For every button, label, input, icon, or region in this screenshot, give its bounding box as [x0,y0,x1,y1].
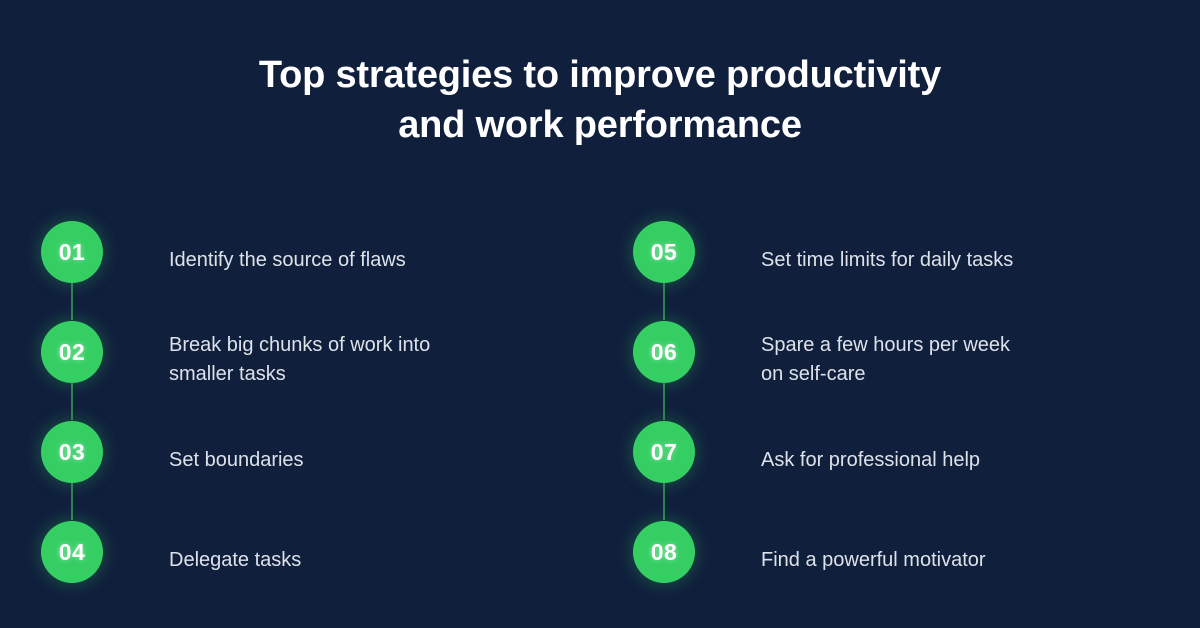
list-item-line-1: Spare a few hours per week [761,331,1161,360]
step-number: 07 [651,441,678,464]
list-item-text: Find a powerful motivator [761,510,1161,610]
list-item[interactable]: 07 Ask for professional help [624,410,1184,510]
list-item-line-1: Break big chunks of work into [169,331,569,360]
right-column: 05 Set time limits for daily tasks 06 Sp… [624,210,1184,610]
step-number: 05 [651,241,678,264]
step-badge-07[interactable]: 07 [633,421,695,483]
list-item[interactable]: 01 Identify the source of flaws [32,210,592,310]
page-title: Top strategies to improve productivity a… [0,50,1200,150]
list-item[interactable]: 03 Set boundaries [32,410,592,510]
list-item[interactable]: 04 Delegate tasks [32,510,592,610]
title-line-1: Top strategies to improve productivity [0,50,1200,100]
list-item-line-1: Ask for professional help [761,446,1161,475]
step-badge-02[interactable]: 02 [41,321,103,383]
step-number: 03 [59,441,86,464]
list-item[interactable]: 02 Break big chunks of work into smaller… [32,310,592,410]
list-item-text: Set boundaries [169,410,569,510]
list-item[interactable]: 06 Spare a few hours per week on self-ca… [624,310,1184,410]
list-item-line-1: Identify the source of flaws [169,246,569,275]
list-item-line-1: Delegate tasks [169,546,569,575]
list-item-text: Break big chunks of work into smaller ta… [169,310,569,410]
step-badge-04[interactable]: 04 [41,521,103,583]
strategy-columns: 01 Identify the source of flaws 02 Break… [0,210,1200,610]
list-item-text: Spare a few hours per week on self-care [761,310,1161,410]
list-item-line-2: on self-care [761,360,1161,389]
step-badge-06[interactable]: 06 [633,321,695,383]
step-badge-01[interactable]: 01 [41,221,103,283]
list-item-line-1: Set time limits for daily tasks [761,246,1161,275]
step-number: 02 [59,341,86,364]
step-badge-03[interactable]: 03 [41,421,103,483]
step-number: 04 [59,541,86,564]
step-number: 08 [651,541,678,564]
list-item-text: Ask for professional help [761,410,1161,510]
list-item-text: Identify the source of flaws [169,210,569,310]
step-number: 01 [59,241,86,264]
title-line-2: and work performance [0,100,1200,150]
step-badge-05[interactable]: 05 [633,221,695,283]
list-item-line-1: Set boundaries [169,446,569,475]
list-item[interactable]: 05 Set time limits for daily tasks [624,210,1184,310]
infographic-poster: Top strategies to improve productivity a… [0,0,1200,628]
list-item-text: Delegate tasks [169,510,569,610]
list-item-line-2: smaller tasks [169,360,569,389]
list-item-line-1: Find a powerful motivator [761,546,1161,575]
left-column: 01 Identify the source of flaws 02 Break… [32,210,592,610]
step-number: 06 [651,341,678,364]
list-item-text: Set time limits for daily tasks [761,210,1161,310]
list-item[interactable]: 08 Find a powerful motivator [624,510,1184,610]
step-badge-08[interactable]: 08 [633,521,695,583]
